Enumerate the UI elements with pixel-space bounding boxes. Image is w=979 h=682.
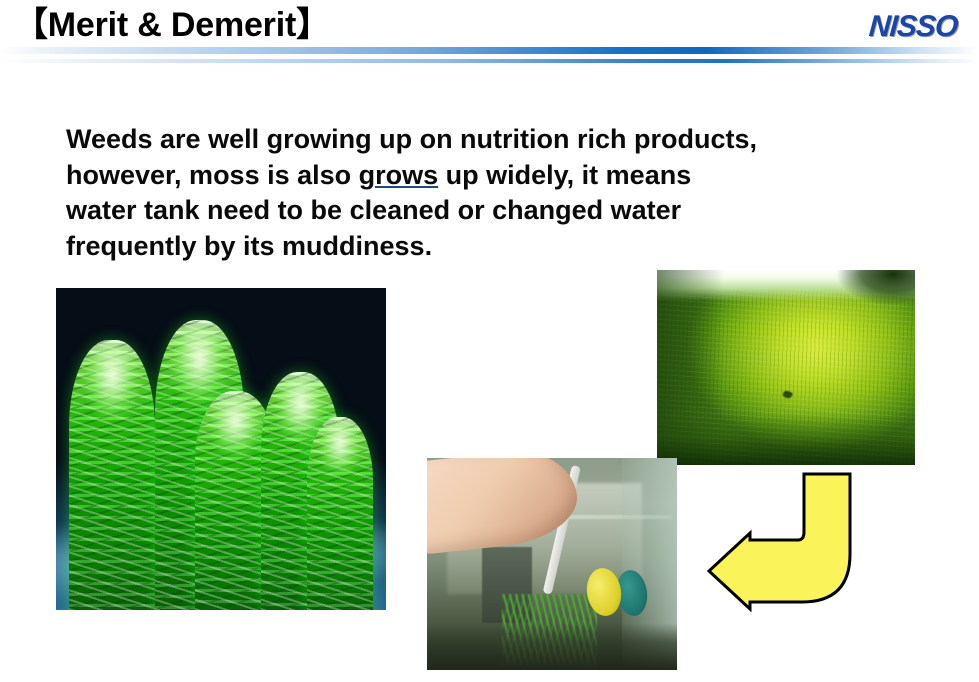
underlined-word-grows: grows [359,160,439,190]
plant-stem [307,417,373,610]
bottom-shadow [657,414,915,465]
tank-cleaning-photo [427,458,677,670]
body-line-2-suffix: up widely, it means [438,160,691,190]
tank-substrate [427,623,677,670]
body-line-1: Weeds are well growing up on nutrition r… [66,122,946,158]
dark-plant-corner [827,270,915,313]
body-line-2-prefix: however, moss is also [66,160,359,190]
nisso-logo: NISSO [867,10,958,44]
header-divider-thin [0,59,979,63]
slide-header: 【Merit & Demerit】 NISSO [0,0,979,72]
aquatic-weed-photo [56,288,386,610]
body-line-4: frequently by its muddiness. [66,229,946,265]
body-paragraph: Weeds are well growing up on nutrition r… [66,122,946,264]
page-title: 【Merit & Demerit】 [14,4,330,46]
arrow-shape [709,474,850,609]
plant-stem [69,340,155,610]
body-line-2: however, moss is also grows up widely, i… [66,158,946,194]
bent-arrow-callout [706,470,858,612]
green-algae-water-photo [657,270,915,465]
body-line-3: water tank need to be cleaned or changed… [66,193,946,229]
header-divider-thick [0,47,979,54]
